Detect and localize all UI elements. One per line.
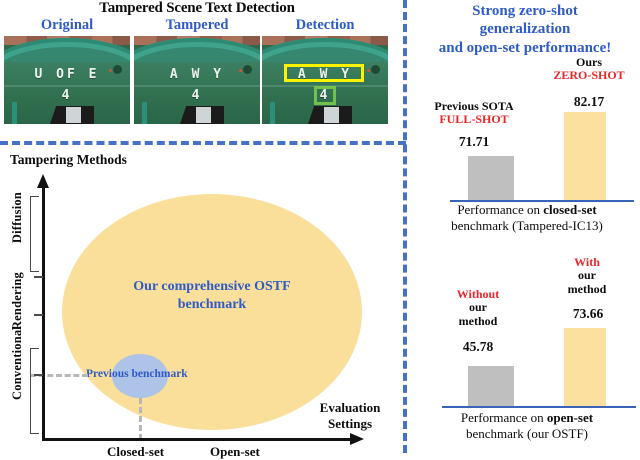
bar-caption-line2: our [578,268,596,282]
detection-box-word [284,64,364,82]
bar-previous-sota [468,156,514,200]
scene-text-word-original: U OF E [4,67,130,82]
y-axis-bracket-conventional [30,348,39,434]
x-axis-title-line1: Evaluation [320,400,381,415]
headline-line-3: and open-set performance! [439,40,611,56]
bar-with-method [564,328,606,406]
plot-area-open-set: Without our method With our method 45.78… [414,252,640,448]
container-post [142,102,147,124]
bar-value-previous-sota: 71.71 [438,134,510,150]
y-axis-tick-1 [34,276,43,278]
bar-value-without-method: 45.78 [434,339,522,355]
x-axis-tick-open-set: Open-set [210,444,260,460]
column-label-tampered: Tampered [134,17,260,34]
container-opening [308,106,352,124]
bar-caption-line1: Without [457,287,499,301]
image-original: U OF E 4 [4,36,130,124]
chart-baseline-open-set [442,406,636,409]
y-axis-bracket-diffusion [30,196,39,272]
y-axis-label-diffusion: Diffusion [10,192,25,243]
caption-prefix: Performance on [457,202,543,217]
x-axis [42,438,352,441]
region-ostf-label-line2: benchmark [178,297,246,312]
y-axis-tick-2 [34,314,43,316]
dumpster-scene-original: U OF E 4 [4,36,130,124]
caption-bold: open-set [547,410,593,425]
container-seam [4,85,130,87]
leader-line-vertical [139,398,142,440]
concept-plot: Our comprehensive OSTF benchmark Previou… [0,168,400,453]
bar-chart-open-set: Without our method With our method 45.78… [414,252,640,448]
x-axis-title: Evaluation Settings [300,400,400,431]
scene-text-digit-original: 4 [4,88,130,103]
image-detection: A W Y 4 [262,36,388,124]
dumpster-scene-detection: A W Y 4 [262,36,388,124]
plot-area-closed-set: Previous SOTA FULL-SHOT Ours ZERO-SHOT 7… [414,56,640,226]
chart-caption-closed-set: Performance on closed-set benchmark (Tam… [414,202,640,233]
container-opening [180,106,224,124]
page-title: Tampered Scene Text Detection [0,0,394,17]
column-label-original: Original [4,17,130,34]
caption-line2: benchmark (our OSTF) [466,426,588,441]
image-tampered: A W Y 4 [134,36,260,124]
bar-caption-without-method: Without our method [422,288,534,328]
bar-caption-line3: method [459,314,498,328]
panel-divider-horizontal [0,141,406,145]
bar-value-ours: 82.17 [544,94,634,110]
bar-ours [564,112,606,200]
container-opening [50,106,94,124]
bar-caption-with-method: With our method [538,256,636,296]
bar-caption-line1: Previous SOTA [434,99,513,113]
caption-prefix: Performance on [461,410,547,425]
headline-line-2: generalization [480,21,571,37]
panel-divider-vertical [403,0,407,453]
x-axis-title-line2: Settings [328,416,372,431]
container-seam [134,85,260,87]
scene-text-digit-tampered: 4 [134,88,260,103]
bar-caption-line2: FULL-SHOT [439,112,508,126]
y-axis [42,186,45,440]
region-ostf-benchmark-label: Our comprehensive OSTF benchmark [92,278,332,313]
bar-without-method [468,366,514,406]
bar-chart-closed-set: Previous SOTA FULL-SHOT Ours ZERO-SHOT 7… [414,56,640,226]
bar-caption-line3: method [568,282,607,296]
bar-caption-line2: ZERO-SHOT [553,68,624,82]
y-axis-label-conventional: Conventional [10,326,25,400]
container-post [12,102,17,124]
dumpster-scene-tampered: A W Y 4 [134,36,260,124]
bar-caption-line1: Ours [576,55,602,69]
y-axis-arrow-icon [37,174,49,188]
caption-bold: closed-set [543,202,596,217]
region-previous-benchmark-label: Previous benchmark [86,368,188,380]
x-axis-tick-closed-set: Closed-set [107,444,164,460]
column-label-detection: Detection [262,17,388,34]
plot-heading: Tampering Methods [10,152,127,168]
region-ostf-label-line1: Our comprehensive OSTF [133,279,290,294]
container-post [270,102,275,124]
right-headline: Strong zero-shot generalization and open… [410,2,640,57]
headline-line-1: Strong zero-shot [472,3,578,19]
chart-caption-open-set: Performance on open-set benchmark (our O… [414,410,640,441]
detection-box-digit [314,86,336,105]
bar-caption-line2: our [469,300,487,314]
bar-caption-previous-sota: Previous SOTA FULL-SHOT [414,100,534,127]
scene-text-word-tampered: A W Y [134,67,260,82]
x-axis-arrow-icon [350,433,364,445]
bar-caption-line1: With [574,255,600,269]
bar-caption-ours: Ours ZERO-SHOT [538,56,640,83]
caption-line2: benchmark (Tampered-IC13) [451,218,603,233]
bar-value-with-method: 73.66 [542,306,634,322]
y-axis-label-rendering: Rendering [10,272,25,330]
y-axis-tick-3 [34,374,43,376]
